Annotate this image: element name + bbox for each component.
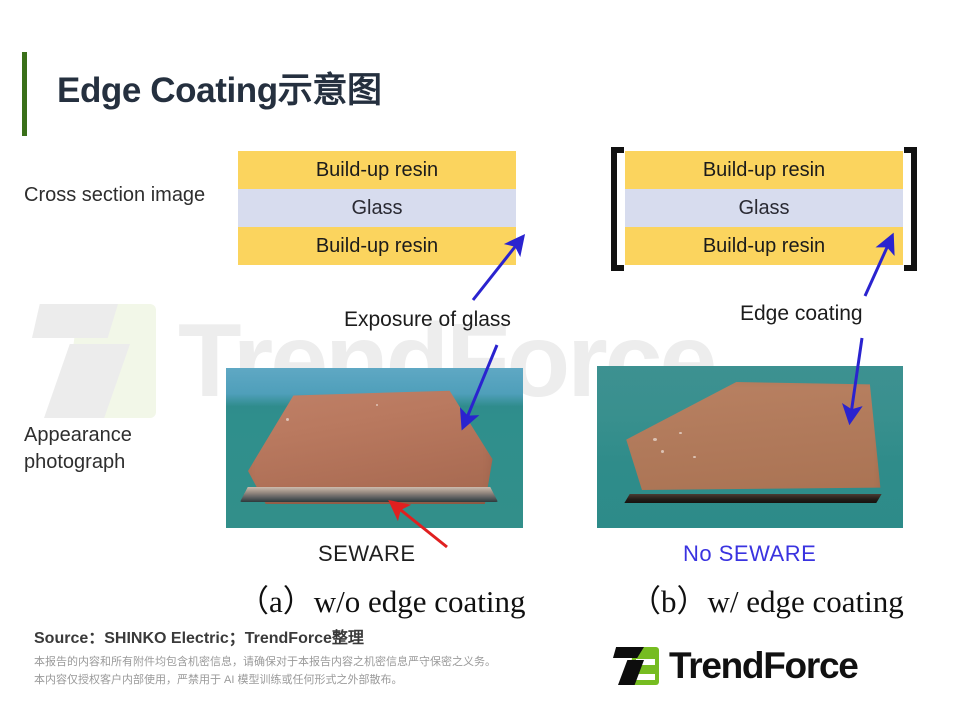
- logo-wordmark: TrendForce: [669, 645, 858, 687]
- caption-b: （b）w/ edge coating: [630, 576, 904, 621]
- cross-section-left: Build-up resin Glass Build-up resin: [238, 151, 516, 265]
- layer-resin-bottom-right: Build-up resin: [625, 227, 903, 265]
- layer-resin-bottom-left: Build-up resin: [238, 227, 516, 265]
- layer-glass-right: Glass: [625, 189, 903, 227]
- title-accent-bar: [22, 52, 27, 136]
- trendforce-logo-icon: [613, 646, 659, 686]
- edge-coating-bracket-left: [611, 147, 624, 271]
- seware-label-right: No SEWARE: [683, 541, 816, 567]
- disclaimer-line-2: 本内容仅授权客户内部使用，严禁用于 AI 模型训练或任何形式之外部散布。: [34, 671, 496, 689]
- slide-root: TrendForce Edge Coating示意图 Cross section…: [0, 0, 960, 720]
- edge-coating-bracket-right: [904, 147, 917, 271]
- layer-glass-left: Glass: [238, 189, 516, 227]
- disclaimer-line-1: 本报告的内容和所有附件均包含机密信息，请确保对于本报告内容之机密信息严守保密之义…: [34, 653, 496, 671]
- layer-resin-top-right: Build-up resin: [625, 151, 903, 189]
- row-label-appearance: Appearance photograph: [24, 422, 224, 476]
- cross-section-right: Build-up resin Glass Build-up resin: [625, 151, 903, 265]
- disclaimer-text: 本报告的内容和所有附件均包含机密信息，请确保对于本报告内容之机密信息严守保密之义…: [34, 653, 496, 689]
- photo-without-edge-coating: [226, 368, 523, 528]
- photo-with-edge-coating: [597, 366, 903, 528]
- caption-a: （a）w/o edge coating: [238, 576, 526, 621]
- panel-edge-seware: [240, 487, 498, 502]
- row-label-cross-section: Cross section image: [24, 182, 224, 209]
- source-line: Source：SHINKO Electric；TrendForce整理: [34, 624, 364, 648]
- seware-label-left: SEWARE: [318, 541, 416, 567]
- callout-exposure-of-glass: Exposure of glass: [344, 308, 511, 332]
- page-title: Edge Coating示意图: [57, 62, 382, 113]
- layer-resin-top-left: Build-up resin: [238, 151, 516, 189]
- trendforce-logo-icon: [30, 302, 160, 420]
- callout-edge-coating: Edge coating: [740, 302, 863, 326]
- trendforce-footer-logo: TrendForce: [613, 645, 858, 687]
